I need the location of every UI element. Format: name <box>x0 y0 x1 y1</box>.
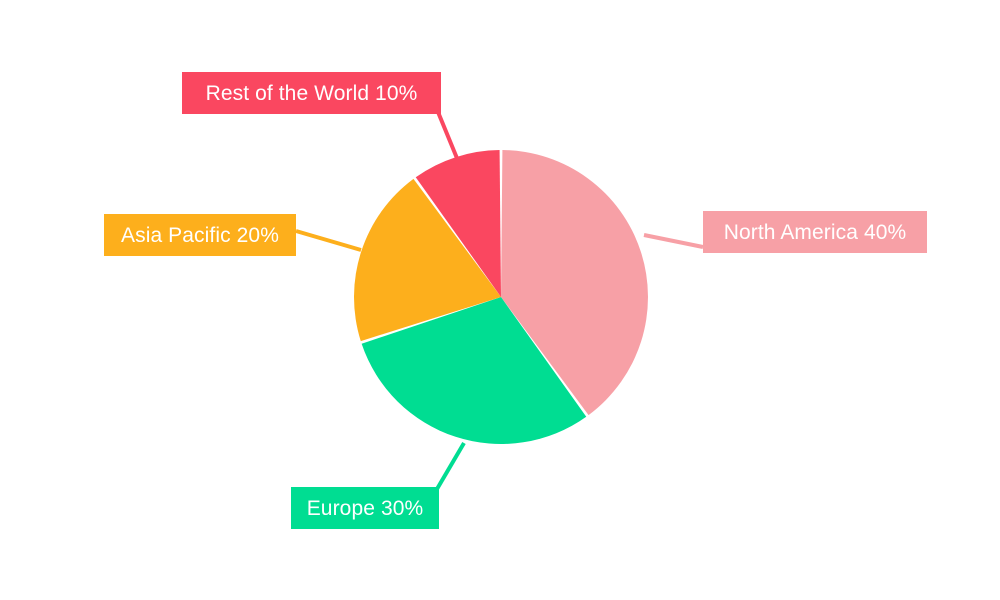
leader-line-asia-pacific <box>296 231 361 250</box>
pie-label-asia-pacific[interactable]: Asia Pacific 20% <box>104 214 296 256</box>
pie-chart-canvas <box>0 0 1000 600</box>
pie-chart-figure: North America 40%Europe 30%Asia Pacific … <box>0 0 1000 600</box>
pie-label-europe[interactable]: Europe 30% <box>291 487 439 529</box>
leader-line-north-america <box>644 235 703 247</box>
pie-slice-group <box>354 150 648 444</box>
leader-line-europe <box>437 443 464 489</box>
pie-label-north-america[interactable]: North America 40% <box>703 211 927 253</box>
pie-label-rest-of-the-world[interactable]: Rest of the World 10% <box>182 72 441 114</box>
